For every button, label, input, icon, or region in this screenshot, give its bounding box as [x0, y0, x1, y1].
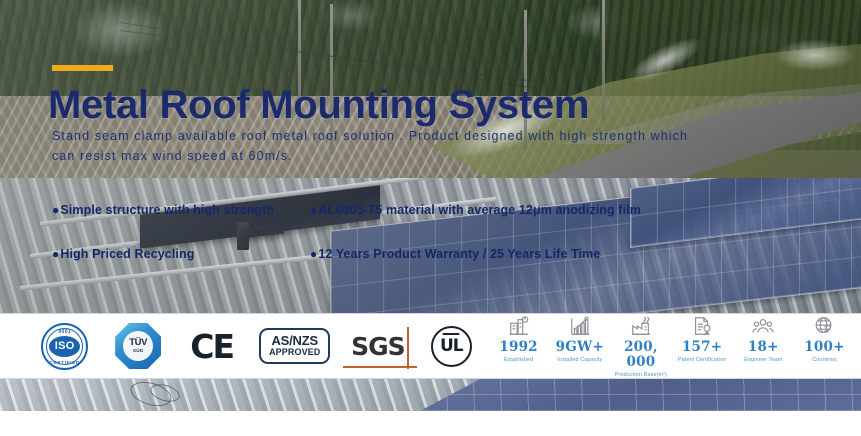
accent-bar	[52, 65, 113, 71]
tuv-sud-badge-icon: TÜV SÜD	[115, 323, 161, 369]
bottom-roof-layer	[0, 379, 470, 411]
asnzs-line-1: AS/NZS	[269, 334, 320, 348]
hero-subtitle-line-1: Stand seam clamp available roof metal ro…	[52, 129, 688, 143]
stat-label: Production Base(m²)	[610, 372, 671, 378]
people-group-icon	[733, 314, 794, 338]
stat-label: Countries	[794, 357, 855, 363]
ul-mark-icon: UL	[431, 326, 472, 367]
feature-bullet: ●12 Years Product Warranty / 25 Years Li…	[310, 247, 600, 261]
stat-patent-certification: 157+ Patent Certification	[672, 314, 733, 363]
sgs-vertical-rule	[407, 327, 408, 369]
product-banner: Metal Roof Mounting System Stand seam cl…	[0, 0, 861, 436]
stat-value: 1992	[488, 340, 549, 355]
certificate-document-icon	[672, 314, 733, 338]
hero-subtitle-line-2: can resist max wind speed at 60m/s.	[52, 146, 852, 166]
tuv-inner: TÜV SÜD	[123, 331, 153, 361]
feature-bullet-text: AL6005-T5 material with average 12μm ano…	[318, 203, 641, 217]
sgs-main-text: SGS	[351, 332, 405, 361]
stat-label: Established	[488, 357, 549, 363]
bullet-dot-icon: ●	[52, 203, 59, 217]
certification-logos: 9001 ISO CERTIFIED TÜV SÜD CE AS/NZ	[0, 323, 488, 370]
feature-bullet: ●Simple structure with high strength	[52, 203, 274, 217]
utility-pole	[602, 0, 605, 120]
bullet-dot-icon: ●	[310, 203, 317, 217]
stat-value: 200, 000	[610, 340, 671, 370]
bullet-dot-icon: ●	[310, 247, 317, 261]
cert-ce: CE	[175, 327, 248, 366]
feature-bullet-text: 12 Years Product Warranty / 25 Years Lif…	[318, 247, 600, 261]
asnzs-line-2: APPROVED	[269, 348, 320, 357]
hero-subtitle: Stand seam clamp available roof metal ro…	[52, 126, 852, 166]
bullet-row: ●High Priced Recycling ●12 Years Product…	[52, 247, 692, 291]
cert-asnzs: AS/NZS APPROVED	[248, 328, 341, 363]
stat-value: 157+	[672, 340, 733, 355]
feature-bullet: ●AL6005-T5 material with average 12μm an…	[310, 203, 641, 217]
cert-ul: UL	[415, 326, 488, 367]
growth-chart-icon	[549, 314, 610, 338]
hero-background-photo: Metal Roof Mounting System Stand seam cl…	[0, 0, 861, 313]
feature-bullet: ●High Priced Recycling	[52, 247, 194, 261]
stat-countries: 100+ Countries	[794, 314, 855, 363]
sgs-mark-icon: SGS	[345, 330, 411, 363]
globe-hand-icon	[794, 314, 855, 338]
stat-engineer-team: 18+ Engineer Team	[733, 314, 794, 363]
iso-bottom-text: CERTIFIED	[43, 360, 86, 365]
stat-installed-capacity: 9GW+ Installed Capacity	[549, 314, 610, 363]
stat-label: Engineer Team	[733, 357, 794, 363]
snow-patch	[760, 30, 861, 80]
ul-main-text: UL	[440, 336, 463, 356]
bottom-panel-layer	[420, 379, 861, 411]
stat-label: Patent Certification	[672, 357, 733, 363]
stat-established: 1992 Established	[488, 314, 549, 363]
ce-mark-icon: CE	[190, 327, 233, 366]
feature-bullet-text: High Priced Recycling	[60, 247, 194, 261]
cert-sgs: SGS	[341, 330, 414, 363]
stat-label: Installed Capacity	[549, 357, 610, 363]
factory-building-icon	[488, 314, 549, 338]
sgs-horizontal-rule	[343, 366, 417, 367]
iso-certified-badge-icon: 9001 ISO CERTIFIED	[41, 323, 88, 370]
stat-value: 9GW+	[549, 340, 610, 355]
company-stats: 1992 Established 9GW+ Installed Capacity	[488, 314, 861, 378]
white-footer-area	[0, 411, 861, 436]
stat-value: 100+	[794, 340, 855, 355]
bullet-row: ●Simple structure with high strength ●AL…	[52, 203, 692, 247]
hero-title: Metal Roof Mounting System	[48, 83, 589, 128]
production-plant-icon	[610, 314, 671, 338]
stat-value: 18+	[733, 340, 794, 355]
iso-top-text: 9001	[43, 329, 86, 335]
bottom-solar-photo-strip	[0, 379, 861, 411]
feature-bullet-text: Simple structure with high strength	[60, 203, 274, 217]
stat-production-base: 200, 000 Production Base(m²)	[610, 314, 671, 378]
as-nzs-approved-icon: AS/NZS APPROVED	[259, 328, 330, 363]
bullet-dot-icon: ●	[52, 247, 59, 261]
feature-bullets: ●Simple structure with high strength ●AL…	[52, 203, 692, 291]
cert-iso: 9001 ISO CERTIFIED	[28, 323, 101, 370]
iso-main-text: ISO	[49, 336, 80, 357]
tuv-bottom-text: SÜD	[133, 349, 144, 354]
certification-stats-bar: 9001 ISO CERTIFIED TÜV SÜD CE AS/NZ	[0, 313, 861, 379]
cert-tuv: TÜV SÜD	[101, 323, 174, 369]
tuv-main-text: TÜV	[129, 338, 147, 348]
